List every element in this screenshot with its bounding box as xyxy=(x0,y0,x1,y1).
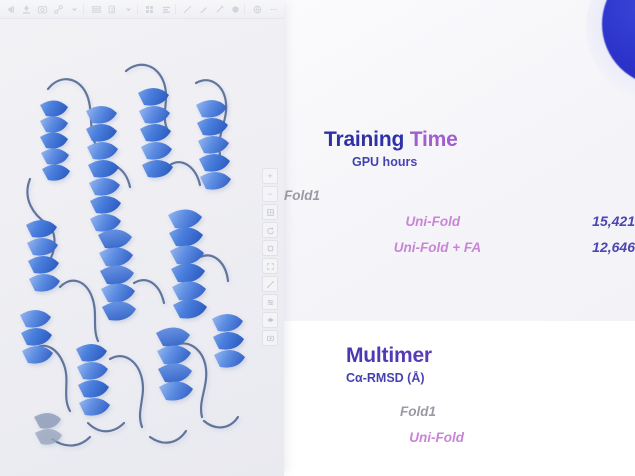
training-title-word1: Training xyxy=(324,128,404,151)
chevron-down-icon-2[interactable] xyxy=(121,2,136,17)
export-icon[interactable] xyxy=(19,2,34,17)
bar-value-unifold: 15,421 xyxy=(581,213,635,229)
bar-track xyxy=(444,406,624,417)
settings-icon[interactable] xyxy=(262,294,278,310)
bar-track xyxy=(472,432,624,443)
rotate-icon[interactable] xyxy=(262,222,278,238)
layers-icon[interactable] xyxy=(89,2,104,17)
ruler-icon[interactable] xyxy=(180,2,195,17)
multimer-bars: Fold1 Uni-Fold xyxy=(284,398,635,450)
reset-view-icon[interactable] xyxy=(262,204,278,220)
toolbar-divider-3 xyxy=(175,4,180,14)
bar-label-unifold-fa: Uni-Fold + FA xyxy=(284,240,489,255)
bar-label-unifold: Uni-Fold xyxy=(284,214,468,229)
bar-value-unifold-fa: 12,646 xyxy=(581,239,635,255)
bar-label-mm-fold1: Fold1 xyxy=(284,404,444,419)
link-icon[interactable] xyxy=(51,2,66,17)
sphere-icon[interactable] xyxy=(228,2,243,17)
zoom-in-icon[interactable]: + xyxy=(262,168,278,184)
training-subtitle: GPU hours xyxy=(284,155,635,169)
bar-row: Uni-Fold + FA 12,646 xyxy=(284,234,635,260)
bar-row: Uni-Fold xyxy=(284,424,635,450)
bar-track xyxy=(468,216,581,227)
wand-icon[interactable] xyxy=(212,2,227,17)
viewer-side-toolbar[interactable]: + − xyxy=(262,168,278,346)
training-title: Training Time xyxy=(284,128,635,152)
section-multimer: Multimer Cα-RMSD (Å) Fold1 Uni-Fold xyxy=(284,344,635,450)
molecular-structure-viewer[interactable]: + − xyxy=(0,0,284,476)
align-icon[interactable] xyxy=(159,2,174,17)
bar-label-fold1: Fold1 xyxy=(284,188,328,203)
results-slide: Training Time GPU hours Fold1 Uni-Fold 1… xyxy=(284,0,635,476)
bar-row: Uni-Fold 15,421 xyxy=(284,208,635,234)
refresh-icon[interactable] xyxy=(262,240,278,256)
multimer-subtitle: Cα-RMSD (Å) xyxy=(284,371,635,385)
screenshot-root: + − xyxy=(0,0,635,476)
multimer-title: Multimer xyxy=(284,344,635,368)
bar-track xyxy=(328,190,628,201)
bar-label-mm-unifold: Uni-Fold xyxy=(284,430,472,445)
training-title-word2: Time xyxy=(410,128,458,151)
more-icon[interactable] xyxy=(266,2,281,17)
multimer-title-word2: mer xyxy=(394,344,432,367)
globe-icon[interactable] xyxy=(250,2,265,17)
multimer-title-word1: Multi xyxy=(346,344,394,367)
back-icon[interactable] xyxy=(3,2,18,17)
bar-row: Fold1 xyxy=(284,398,635,424)
screenshot-icon[interactable] xyxy=(35,2,50,17)
toolbar-divider-2 xyxy=(137,4,142,14)
chevron-down-icon[interactable] xyxy=(67,2,82,17)
bar-row: Fold1 xyxy=(284,182,635,208)
toolbar-divider xyxy=(83,4,88,14)
pencil-icon[interactable] xyxy=(196,2,211,17)
toolbar-divider-4 xyxy=(244,4,249,14)
snapshot-icon[interactable] xyxy=(262,330,278,346)
training-bars: Fold1 Uni-Fold 15,421 Uni-Fold + FA xyxy=(284,182,635,260)
layers-toggle-icon[interactable] xyxy=(262,312,278,328)
bar-track xyxy=(489,242,581,253)
viewer-toolbar[interactable] xyxy=(0,0,284,19)
zoom-out-icon[interactable]: − xyxy=(262,186,278,202)
protein-ribbon-render[interactable] xyxy=(0,19,284,476)
measure-icon[interactable] xyxy=(262,276,278,292)
grid-icon[interactable] xyxy=(142,2,157,17)
fullscreen-icon[interactable] xyxy=(262,258,278,274)
copy-icon[interactable] xyxy=(105,2,120,17)
section-training-time: Training Time GPU hours Fold1 Uni-Fold 1… xyxy=(284,128,635,260)
